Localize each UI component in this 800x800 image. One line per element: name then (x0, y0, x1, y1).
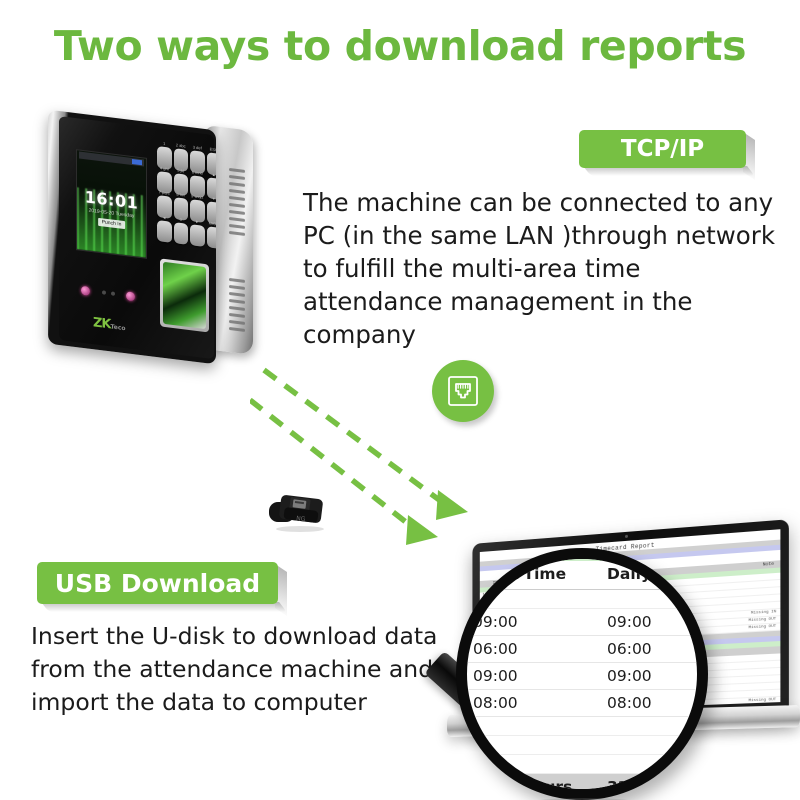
cell-daily-total: 08:00 (607, 694, 708, 712)
device-vents-top (229, 168, 245, 240)
keypad-key-4-label: 4 ghi (157, 165, 172, 172)
keypad-key-7-label: 7 pqrs (157, 189, 172, 196)
tcpip-badge[interactable]: TCP/IP (579, 130, 746, 168)
keypad-key-ok-label: M/OK (207, 220, 217, 227)
keypad-key-esc-label: ESC (207, 146, 217, 153)
magnified-table-row: 06:0006:00 (467, 636, 708, 663)
zkteco-attendance-terminal: 16:01 2019-05-20 Tuesday Punch In 1 2 ab… (48, 120, 253, 360)
keypad-key-5-label: 5 jkl (174, 167, 189, 174)
magnified-table-spacer-3 (467, 755, 708, 774)
magnified-col-work-time: Work Time (467, 565, 607, 583)
device-body: 16:01 2019-05-20 Tuesday Punch In 1 2 ab… (48, 110, 216, 365)
cell-daily-total: 09:00 (607, 667, 708, 685)
magnified-table-spacer-1 (467, 717, 708, 736)
device-keypad[interactable]: 1 2 abc 3 def ESC 4 ghi 5 jkl 6 mno ▲ 7 … (157, 146, 216, 249)
usb-download-badge[interactable]: USB Download (37, 562, 278, 604)
cell-work-time: 06:00 (467, 640, 607, 658)
row-note: Missing OUT (748, 617, 780, 623)
keypad-key-right[interactable]: ► (190, 224, 205, 247)
usb-download-badge-label: USB Download (55, 569, 260, 598)
keypad-key-1-label: 1 (157, 140, 172, 147)
arrow-right-icon: ► (190, 218, 205, 225)
magnified-table-row: 09:0009:00 (467, 609, 708, 636)
keypad-key-8-label: 8 tuv (174, 191, 189, 198)
magnified-total-value: 32.01:00 (607, 778, 708, 796)
keypad-key-ok[interactable]: M/OK (207, 226, 217, 249)
cell-daily-total: 09:00 (607, 613, 708, 631)
magnified-table-rows: 09:0009:0006:0006:0009:0009:0008:0008:00 (467, 609, 708, 717)
cell-work-time: 09:00 (467, 667, 607, 685)
keypad-key-6-label: 6 mno (190, 169, 205, 176)
magnified-table-spacer-2 (467, 736, 708, 755)
magnified-table-header: Work Time Daily Total (467, 559, 708, 590)
magnified-table-row: 09:0009:00 (467, 663, 708, 690)
poster-canvas: Two ways to download reports 16:01 2019-… (0, 0, 800, 800)
magnified-report-view: Work Time Daily Total 09:0009:0006:0006:… (456, 548, 708, 800)
keypad-key-9-label: 9 wxyz (190, 193, 205, 200)
device-front-face: 16:01 2019-05-20 Tuesday Punch In 1 2 ab… (59, 116, 214, 359)
keypad-key-left[interactable]: ◄ (157, 220, 172, 243)
sensor-dot-1 (102, 290, 106, 294)
magnified-table-spacer-top (467, 590, 708, 609)
keypad-key-2-label: 2 abc (174, 142, 189, 149)
fingerprint-reader[interactable] (160, 258, 209, 332)
page-title: Two ways to download reports (0, 22, 800, 70)
tcpip-description: The machine can be connected to any PC (… (303, 186, 783, 351)
zkteco-logo: ZKTeco (93, 315, 126, 334)
magnified-total-label: Total Hours (467, 778, 607, 796)
sensor-dot-2 (111, 291, 115, 295)
arrowhead-upper (436, 490, 468, 520)
magnifier-lens: Work Time Daily Total 09:0009:0006:0006:… (456, 548, 708, 800)
zkteco-logo-suffix: Teco (111, 323, 126, 332)
usb-flash-drive: NG (268, 489, 331, 535)
magnifying-glass: Work Time Daily Total 09:0009:0006:0006:… (456, 548, 724, 800)
tcpip-badge-label: TCP/IP (621, 136, 704, 162)
cell-daily-total: 06:00 (607, 640, 708, 658)
ir-led-right-icon (126, 291, 135, 301)
magnified-col-daily-total: Daily Total (607, 565, 708, 583)
device-lcd-screen: 16:01 2019-05-20 Tuesday Punch In (76, 149, 147, 259)
arrow-down-icon: ▼ (207, 195, 217, 202)
usb-description: Insert the U-disk to download data from … (31, 620, 451, 719)
keypad-key-0[interactable]: 0 (174, 222, 189, 245)
keypad-key-0-label: 0 (174, 216, 189, 223)
device-vents-bottom (229, 278, 245, 340)
magnified-table-row: 08:0008:00 (467, 690, 708, 717)
fingerprint-sensor-surface (163, 262, 206, 329)
webcam-icon (625, 535, 628, 538)
magnified-table: Work Time Daily Total 09:0009:0006:0006:… (467, 559, 708, 800)
ir-led-left-icon (81, 286, 90, 296)
row-note: Missing IN (751, 610, 780, 616)
arrow-up-icon: ▲ (207, 171, 217, 178)
row-note: Missing OUT (748, 624, 780, 630)
row-note: Missing OUT (748, 698, 780, 703)
keypad-key-3-label: 3 def (190, 144, 205, 151)
screen-status-bar (79, 151, 144, 166)
magnified-total-row: Total Hours 32.01:00 (467, 774, 708, 800)
cell-work-time: 09:00 (467, 613, 607, 631)
svg-text:NG: NG (296, 515, 306, 523)
zkteco-logo-mark: ZK (93, 315, 111, 332)
arrowhead-lower (406, 515, 438, 545)
cell-work-time: 08:00 (467, 694, 607, 712)
arrow-left-icon: ◄ (157, 214, 172, 221)
